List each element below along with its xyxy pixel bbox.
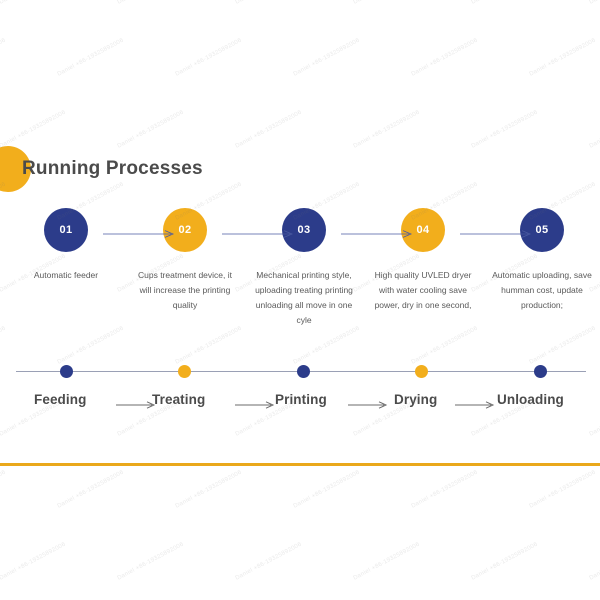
watermark-text: Daniel +86-19325892006 [589,110,600,150]
timeline-dot-printing[interactable] [297,365,310,378]
step-connector-arrow-1-2 [103,229,177,239]
watermark-text: Daniel +86-19325892006 [411,38,479,78]
watermark-text: Daniel +86-19325892006 [589,542,600,582]
watermark-text: Daniel +86-19325892006 [175,470,243,510]
watermark-text: Daniel +86-19325892006 [471,542,539,582]
process-step-04[interactable]: 04 High quality UVLED dryer with water c… [364,208,482,313]
watermark-text: Daniel +86-19325892006 [293,38,361,78]
watermark-text: Daniel +86-19325892006 [0,38,7,78]
watermark-text: Daniel +86-19325892006 [529,470,597,510]
step-connector-arrow-3-4 [341,229,415,239]
timeline-dot-feeding[interactable] [60,365,73,378]
step-description-05: Automatic uploading, save humman cost, u… [490,268,594,313]
stage-label-feeding[interactable]: Feeding [34,392,86,407]
watermark-text: Daniel +86-19325892006 [0,542,67,582]
process-step-01[interactable]: 01 Automatic feeder [7,208,125,283]
stage-label-printing[interactable]: Printing [275,392,327,407]
watermark-text: Daniel +86-19325892006 [0,0,67,6]
watermark-text: Daniel +86-19325892006 [0,110,67,150]
watermark-text: Daniel +86-19325892006 [57,38,125,78]
timeline-dot-treating[interactable] [178,365,191,378]
watermark-text: Daniel +86-19325892006 [353,110,421,150]
stage-label-drying[interactable]: Drying [394,392,437,407]
process-step-02[interactable]: 02 Cups treatment device, it will increa… [126,208,244,313]
watermark-text: Daniel +86-19325892006 [529,38,597,78]
stage-labels-row: Feeding Treating Printing Drying Unloadi… [0,392,600,416]
watermark-text: Daniel +86-19325892006 [117,542,185,582]
process-step-03[interactable]: 03 Mechanical printing style, uploading … [245,208,363,328]
step-number-badge-01: 01 [44,208,88,252]
watermark-text: Daniel +86-19325892006 [235,542,303,582]
step-description-04: High quality UVLED dryer with water cool… [371,268,475,313]
timeline-dot-unloading[interactable] [534,365,547,378]
watermark-text: Daniel +86-19325892006 [57,470,125,510]
timeline [0,362,600,382]
watermark-text: Daniel +86-19325892006 [589,0,600,6]
step-description-01: Automatic feeder [14,268,118,283]
watermark-text: Daniel +86-19325892006 [235,110,303,150]
step-connector-arrow-2-3 [222,229,296,239]
watermark-text: Daniel +86-19325892006 [175,38,243,78]
page-title: Running Processes [22,158,203,180]
process-step-05[interactable]: 05 Automatic uploading, save humman cost… [483,208,600,313]
step-description-02: Cups treatment device, it will increase … [133,268,237,313]
stage-arrow-printing-drying [348,400,390,410]
stage-label-treating[interactable]: Treating [152,392,205,407]
stage-label-unloading[interactable]: Unloading [497,392,564,407]
stage-arrow-treating-printing [235,400,277,410]
process-steps-row: 01 Automatic feeder 02 Cups treatment de… [0,208,600,358]
watermark-text: Daniel +86-19325892006 [353,542,421,582]
footer-accent-bar [0,463,600,466]
step-description-03: Mechanical printing style, uploading tre… [252,268,356,328]
stage-arrow-drying-unloading [455,400,497,410]
watermark-text: Daniel +86-19325892006 [293,470,361,510]
watermark-text: Daniel +86-19325892006 [471,110,539,150]
page-title-block: Running Processes [0,146,203,192]
step-connector-arrow-4-5 [460,229,534,239]
watermark-text: Daniel +86-19325892006 [117,0,185,6]
watermark-text: Daniel +86-19325892006 [117,110,185,150]
timeline-dot-drying[interactable] [415,365,428,378]
watermark-text: Daniel +86-19325892006 [0,470,7,510]
watermark-text: Daniel +86-19325892006 [471,0,539,6]
watermark-text: Daniel +86-19325892006 [235,0,303,6]
watermark-text: Daniel +86-19325892006 [353,0,421,6]
watermark-text: Daniel +86-19325892006 [411,470,479,510]
